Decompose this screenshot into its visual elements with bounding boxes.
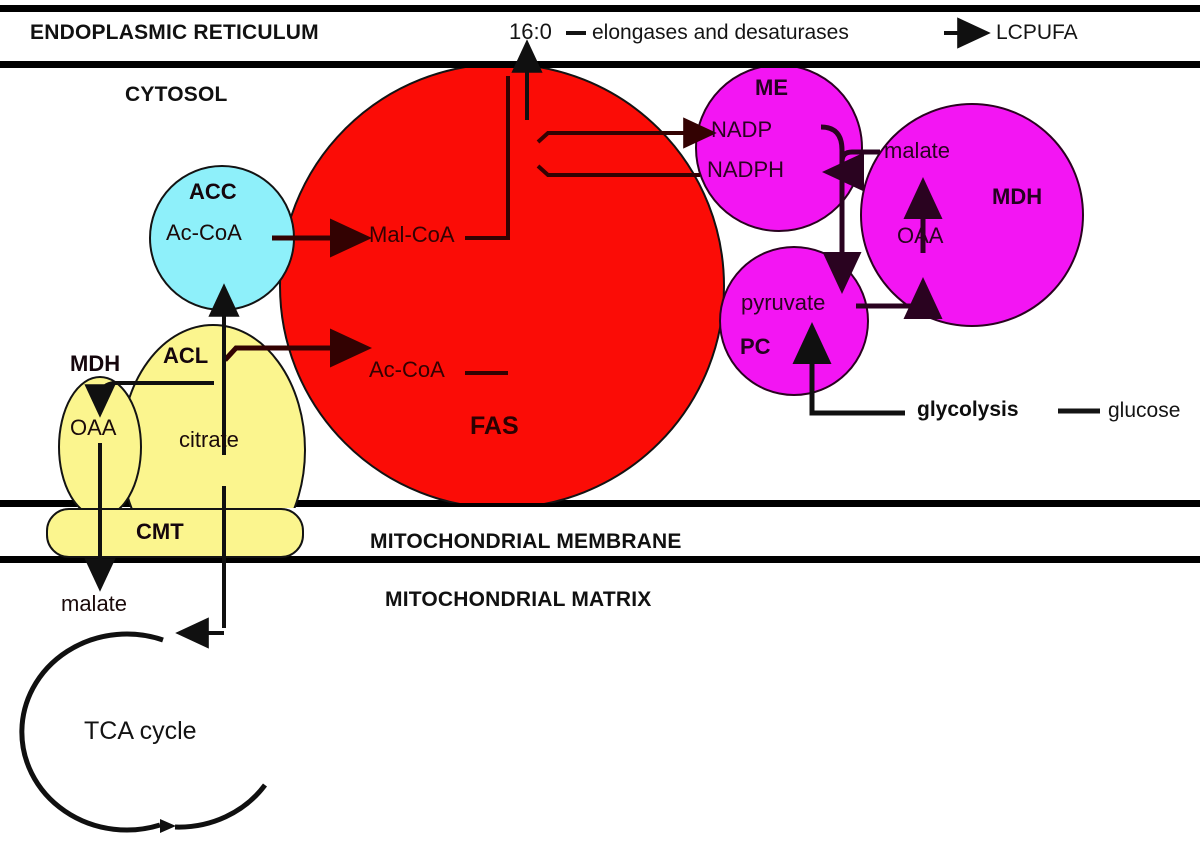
metabolite-label-malate-cytosolic: malate [884,140,950,162]
enzyme-label-me: ME [755,77,788,99]
enzyme-label-fas: FAS [470,414,519,439]
enzyme-label-acl: ACL [163,345,208,367]
compartment-label-cytosol: CYTOSOL [125,84,228,105]
metabolite-label-malate-matrix: malate [61,593,127,615]
metabolite-label-16-0: 16:0 [509,21,552,43]
metabolite-label-pyruvate: pyruvate [741,292,825,314]
metabolite-label-oaa-cytosolic: OAA [70,417,116,439]
enzyme-label-mdh-magenta: MDH [992,186,1042,208]
compartment-label-mitochondrial-matrix: MITOCHONDRIAL MATRIX [385,589,652,610]
metabolite-label-nadp: NADP [711,119,772,141]
metabolite-label-citrate: citrate [179,429,239,451]
enzyme-label-pc: PC [740,336,771,358]
cycle-label-tca: TCA cycle [84,719,197,744]
enzyme-label-cmt: CMT [136,521,184,543]
fas-body [280,64,724,508]
enzyme-label-acc: ACC [189,181,237,203]
metabolite-label-lcpufa: LCPUFA [996,22,1078,43]
metabolite-label-ac-coa-acc: Ac-CoA [166,222,242,244]
pathway-diagram-canvas: ENDOPLASMIC RETICULUM CYTOSOL MITOCHONDR… [0,0,1200,847]
enzyme-label-elongases-desaturases: elongases and desaturases [592,22,849,43]
pc-body [720,247,868,395]
metabolite-label-nadph: NADPH [707,159,784,181]
enzyme-label-mdh-cytosolic: MDH [70,353,120,375]
pathway-label-glycolysis: glycolysis [917,399,1019,420]
compartment-label-endoplasmic-reticulum: ENDOPLASMIC RETICULUM [30,22,319,43]
metabolite-label-mal-coa: Mal-CoA [369,224,455,246]
metabolite-label-oaa-mitochondrial: OAA [897,225,943,247]
compartment-label-mitochondrial-membrane: MITOCHONDRIAL MEMBRANE [370,531,682,552]
metabolite-label-ac-coa-fas: Ac-CoA [369,359,445,381]
metabolite-label-glucose: glucose [1108,400,1180,421]
